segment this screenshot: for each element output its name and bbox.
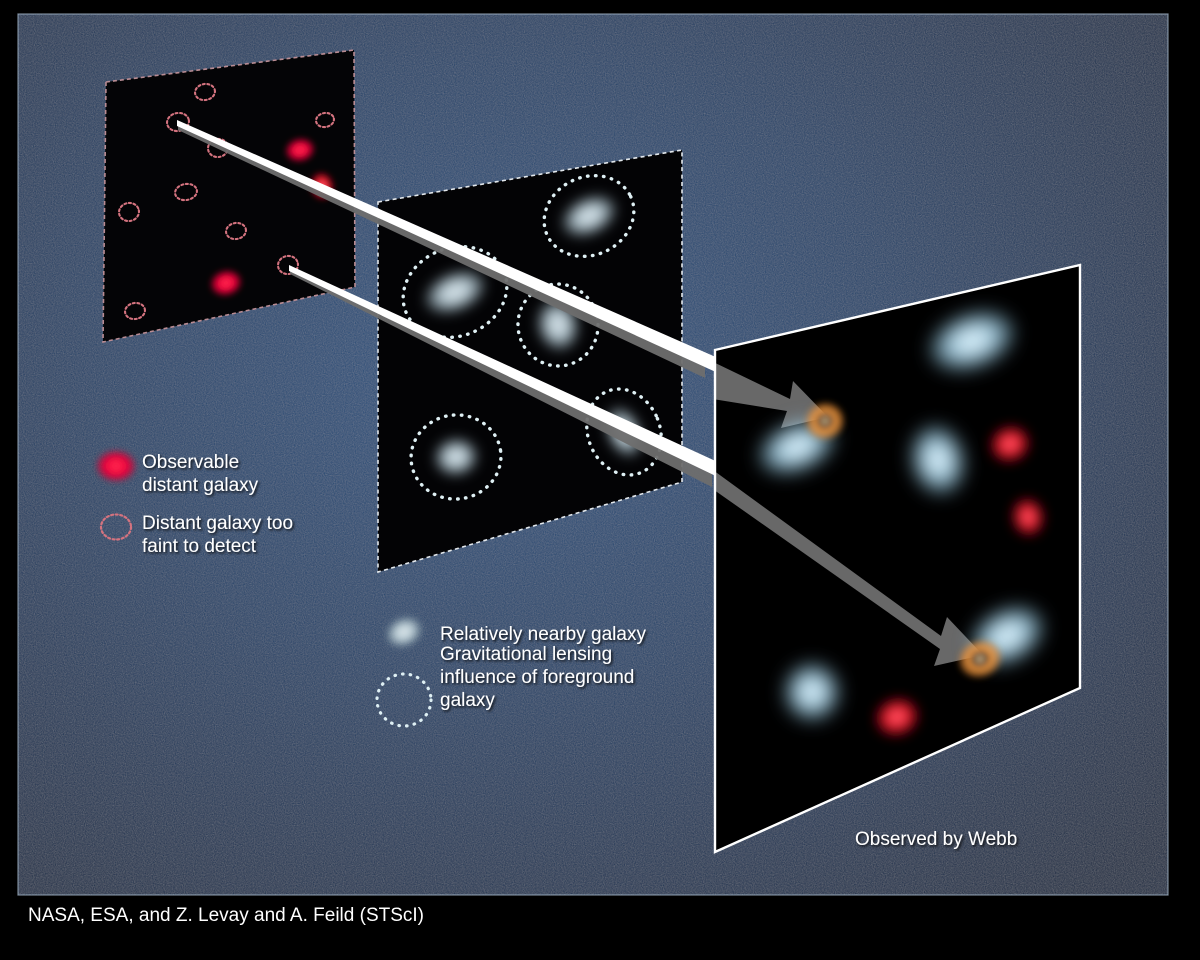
figure-stage: Observed by Webb Observable distant gala… [0, 0, 1200, 960]
legend-label: distant galaxy [142, 475, 259, 496]
legend-label: Observable [142, 452, 239, 473]
panel-near-caption: Observed by Webb [855, 829, 1017, 850]
legend-label: galaxy [440, 690, 495, 711]
legend-label: Gravitational lensing [440, 644, 612, 665]
legend-label: Distant galaxy too [142, 513, 293, 534]
nearby-galaxy [784, 663, 840, 721]
legend-label: faint to detect [142, 536, 257, 557]
lensing-diagram-svg: Observed by Webb Observable distant gala… [0, 0, 1200, 960]
legend-label: influence of foreground [440, 667, 634, 688]
legend-label: Relatively nearby galaxy [440, 624, 646, 645]
credit-line: NASA, ESA, and Z. Levay and A. Feild (ST… [28, 905, 424, 926]
observable-distant-galaxy-icon [97, 451, 135, 481]
